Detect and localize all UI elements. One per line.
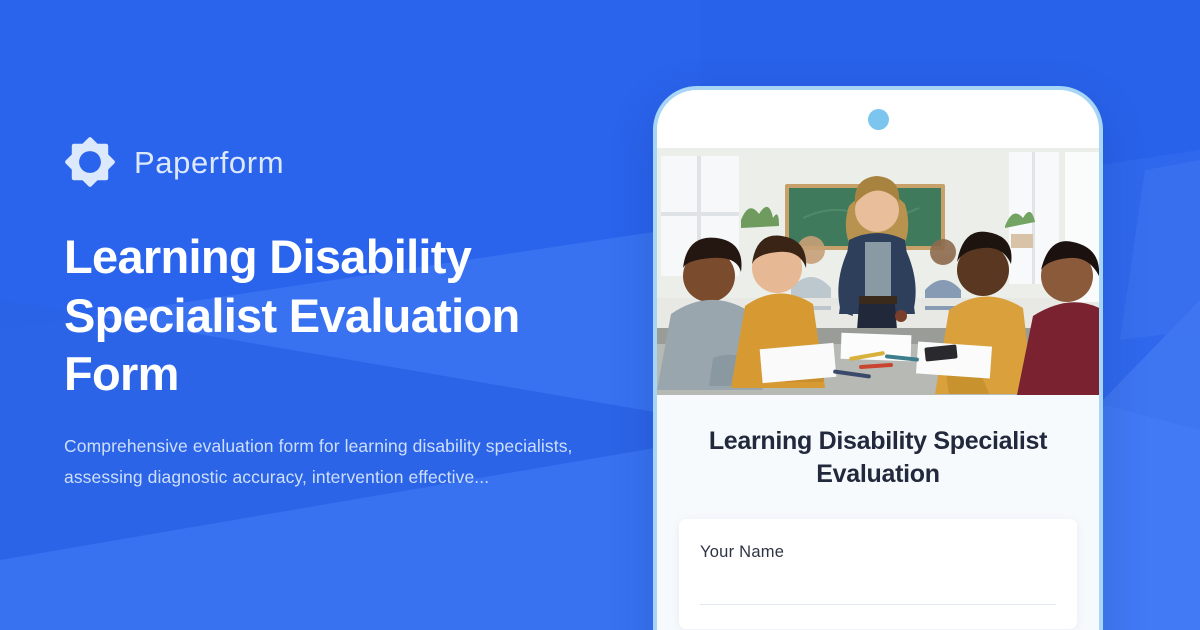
hero-content-column: Paperform Learning Disability Specialist… <box>64 0 624 630</box>
form-body: Learning Disability Specialist Evaluatio… <box>657 395 1099 629</box>
brand-logo: Paperform <box>64 136 624 188</box>
your-name-label: Your Name <box>700 543 1056 562</box>
phone-notch <box>657 90 1099 148</box>
your-name-input[interactable] <box>700 604 1056 605</box>
brand-name-label: Paperform <box>134 147 284 178</box>
page-description: Comprehensive evaluation form for learni… <box>64 431 584 493</box>
paperform-octagram-logo-icon <box>64 136 116 188</box>
form-hero-image <box>657 148 1099 395</box>
phone-mockup: Learning Disability Specialist Evaluatio… <box>653 86 1103 630</box>
page-title: Learning Disability Specialist Evaluatio… <box>64 228 584 403</box>
camera-dot-icon <box>868 109 889 130</box>
form-title: Learning Disability Specialist Evaluatio… <box>679 425 1077 491</box>
form-field-card[interactable]: Your Name <box>679 519 1077 629</box>
social-share-card: Paperform Learning Disability Specialist… <box>0 0 1200 630</box>
classroom-students-with-teacher-photo <box>657 148 1099 395</box>
